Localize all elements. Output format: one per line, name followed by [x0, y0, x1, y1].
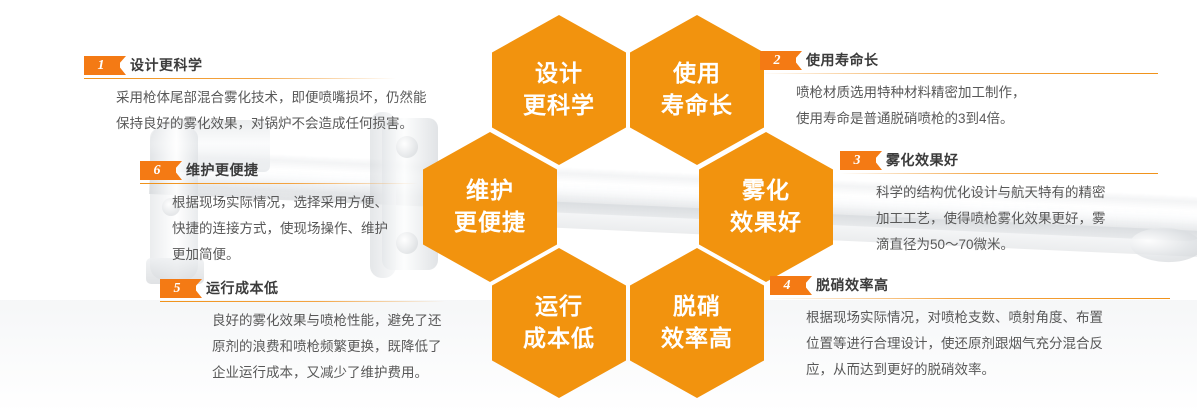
feature-5-body: 良好的雾化效果与喷枪性能，避免了还 原剂的浪费和喷枪频繁更换，既降低了 企业运行…	[160, 308, 445, 386]
feature-2-line: 喷枪材质选用特种材料精密加工制作，	[796, 80, 1158, 106]
feature-5-header: 5 运行成本低	[160, 278, 445, 298]
feature-2-header: 2 使用寿命长	[760, 50, 1158, 70]
feature-4-header: 4 脱硝效率高	[770, 275, 1170, 295]
feature-6-line: 快捷的连接方式，使现场操作、维护	[172, 216, 418, 242]
feature-2-line: 使用寿命是普通脱硝喷枪的3到4倍。	[796, 106, 1158, 132]
feature-1-header: 1 设计更科学	[84, 55, 396, 75]
hex-atomization[interactable]: 雾化 效果好	[699, 132, 833, 282]
number-badge-5-icon: 5	[160, 279, 196, 298]
hex-lifespan-line1: 使用	[673, 58, 721, 90]
feature-3-atomization: 3 雾化效果好 科学的结构优化设计与航天特有的精密 加工工艺，使得喷枪雾化效果更…	[840, 150, 1158, 258]
hex-denitration-line1: 脱硝	[673, 291, 721, 323]
feature-4-denitration: 4 脱硝效率高 根据现场实际情况，对喷枪支数、喷射角度、布置 位置等进行合理设计…	[770, 275, 1170, 383]
hex-design[interactable]: 设计 更科学	[492, 15, 626, 165]
feature-3-body: 科学的结构优化设计与航天特有的精密 加工工艺，使得喷枪雾化效果更好，雾 滴直径为…	[840, 180, 1158, 258]
feature-2-body: 喷枪材质选用特种材料精密加工制作， 使用寿命是普通脱硝喷枪的3到4倍。	[760, 80, 1158, 132]
feature-3-divider	[840, 173, 1158, 174]
feature-2-divider	[760, 73, 1158, 74]
hex-design-line1: 设计	[535, 58, 583, 90]
feature-3-line: 科学的结构优化设计与航天特有的精密	[876, 180, 1158, 206]
hex-maintenance-line2: 更便捷	[454, 207, 526, 239]
feature-4-title: 脱硝效率高	[816, 275, 889, 295]
number-badge-3-icon: 3	[840, 151, 876, 170]
feature-1-line: 采用枪体尾部混合雾化技术，即便喷嘴损坏，仍然能	[116, 85, 396, 111]
feature-1-divider	[84, 78, 396, 79]
hex-lifespan-line2: 寿命长	[661, 90, 733, 122]
number-badge-4-icon: 4	[770, 276, 806, 295]
feature-4-divider	[770, 298, 1170, 299]
hex-maintenance[interactable]: 维护 更便捷	[423, 132, 557, 282]
hex-operating-cost[interactable]: 运行 成本低	[492, 248, 626, 398]
feature-4-line: 根据现场实际情况，对喷枪支数、喷射角度、布置	[806, 305, 1170, 331]
feature-1-line: 保持良好的雾化效果，对锅炉不会造成任何损害。	[116, 111, 396, 137]
hex-lifespan[interactable]: 使用 寿命长	[630, 15, 764, 165]
hex-denitration[interactable]: 脱硝 效率高	[630, 248, 764, 398]
feature-1-title: 设计更科学	[130, 55, 203, 75]
feature-2-lifespan: 2 使用寿命长 喷枪材质选用特种材料精密加工制作， 使用寿命是普通脱硝喷枪的3到…	[760, 50, 1158, 132]
feature-6-line: 更加简便。	[172, 242, 418, 268]
feature-5-divider	[160, 301, 445, 302]
hex-operating-cost-line1: 运行	[535, 291, 583, 323]
feature-3-header: 3 雾化效果好	[840, 150, 1158, 170]
feature-6-header: 6 维护更便捷	[140, 160, 418, 180]
feature-4-body: 根据现场实际情况，对喷枪支数、喷射角度、布置 位置等进行合理设计，使还原剂跟烟气…	[770, 305, 1170, 383]
hex-atomization-line1: 雾化	[742, 175, 790, 207]
number-badge-6-icon: 6	[140, 161, 176, 180]
feature-4-line: 应，从而达到更好的脱硝效率。	[806, 357, 1170, 383]
feature-5-operating-cost: 5 运行成本低 良好的雾化效果与喷枪性能，避免了还 原剂的浪费和喷枪频繁更换，既…	[160, 278, 445, 386]
feature-5-line: 企业运行成本，又减少了维护费用。	[212, 360, 445, 386]
feature-1-design: 1 设计更科学 采用枪体尾部混合雾化技术，即便喷嘴损坏，仍然能 保持良好的雾化效…	[84, 55, 396, 137]
feature-3-title: 雾化效果好	[886, 150, 959, 170]
number-badge-2-icon: 2	[760, 51, 796, 70]
feature-5-title: 运行成本低	[206, 278, 279, 298]
feature-6-maintenance: 6 维护更便捷 根据现场实际情况，选择采用方便、 快捷的连接方式，使现场操作、维…	[140, 160, 418, 268]
feature-3-line: 滴直径为50～70微米。	[876, 232, 1158, 258]
hex-design-line2: 更科学	[523, 90, 595, 122]
hex-atomization-line2: 效果好	[730, 207, 802, 239]
feature-2-title: 使用寿命长	[806, 50, 879, 70]
lance-flange-bolt	[396, 136, 418, 158]
feature-6-body: 根据现场实际情况，选择采用方便、 快捷的连接方式，使现场操作、维护 更加简便。	[140, 190, 418, 268]
feature-6-line: 根据现场实际情况，选择采用方便、	[172, 190, 418, 216]
number-badge-1-icon: 1	[84, 56, 120, 75]
feature-1-body: 采用枪体尾部混合雾化技术，即便喷嘴损坏，仍然能 保持良好的雾化效果，对锅炉不会造…	[84, 85, 396, 137]
hex-maintenance-line1: 维护	[466, 175, 514, 207]
infographic-stage: 设计 更科学 使用 寿命长 维护 更便捷 雾化 效果好 运行 成本低 脱硝 效率…	[0, 0, 1197, 413]
feature-5-line: 原剂的浪费和喷枪频繁更换，既降低了	[212, 334, 445, 360]
feature-3-line: 加工工艺，使得喷枪雾化效果更好，雾	[876, 206, 1158, 232]
feature-4-line: 位置等进行合理设计，使还原剂跟烟气充分混合反	[806, 331, 1170, 357]
hex-operating-cost-line2: 成本低	[523, 323, 595, 355]
feature-6-title: 维护更便捷	[186, 160, 259, 180]
hex-denitration-line2: 效率高	[661, 323, 733, 355]
feature-5-line: 良好的雾化效果与喷枪性能，避免了还	[212, 308, 445, 334]
feature-6-divider	[140, 183, 418, 184]
